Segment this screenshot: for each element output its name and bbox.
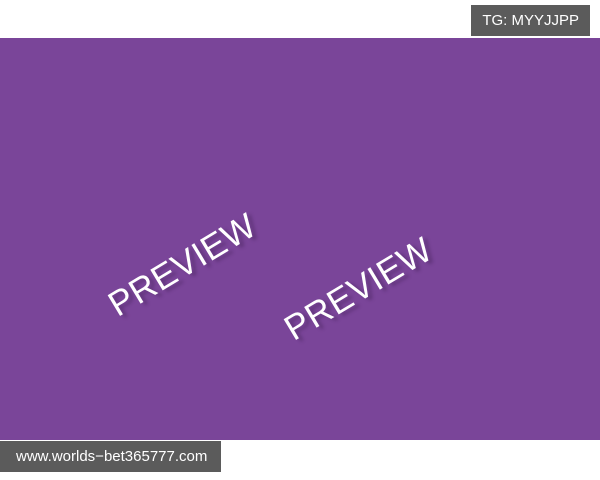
purple-placeholder-panel: PREVIEW PREVIEW [0,38,600,440]
site-url-watermark: www.worlds−bet365777.com [0,441,221,472]
telegram-handle-badge: TG: MYYJJPP [471,5,590,36]
preview-watermark: PREVIEW [278,230,440,349]
preview-watermark: PREVIEW [102,206,264,325]
screenshot-canvas: PREVIEW PREVIEW TG: MYYJJPP www.worlds−b… [0,0,600,480]
